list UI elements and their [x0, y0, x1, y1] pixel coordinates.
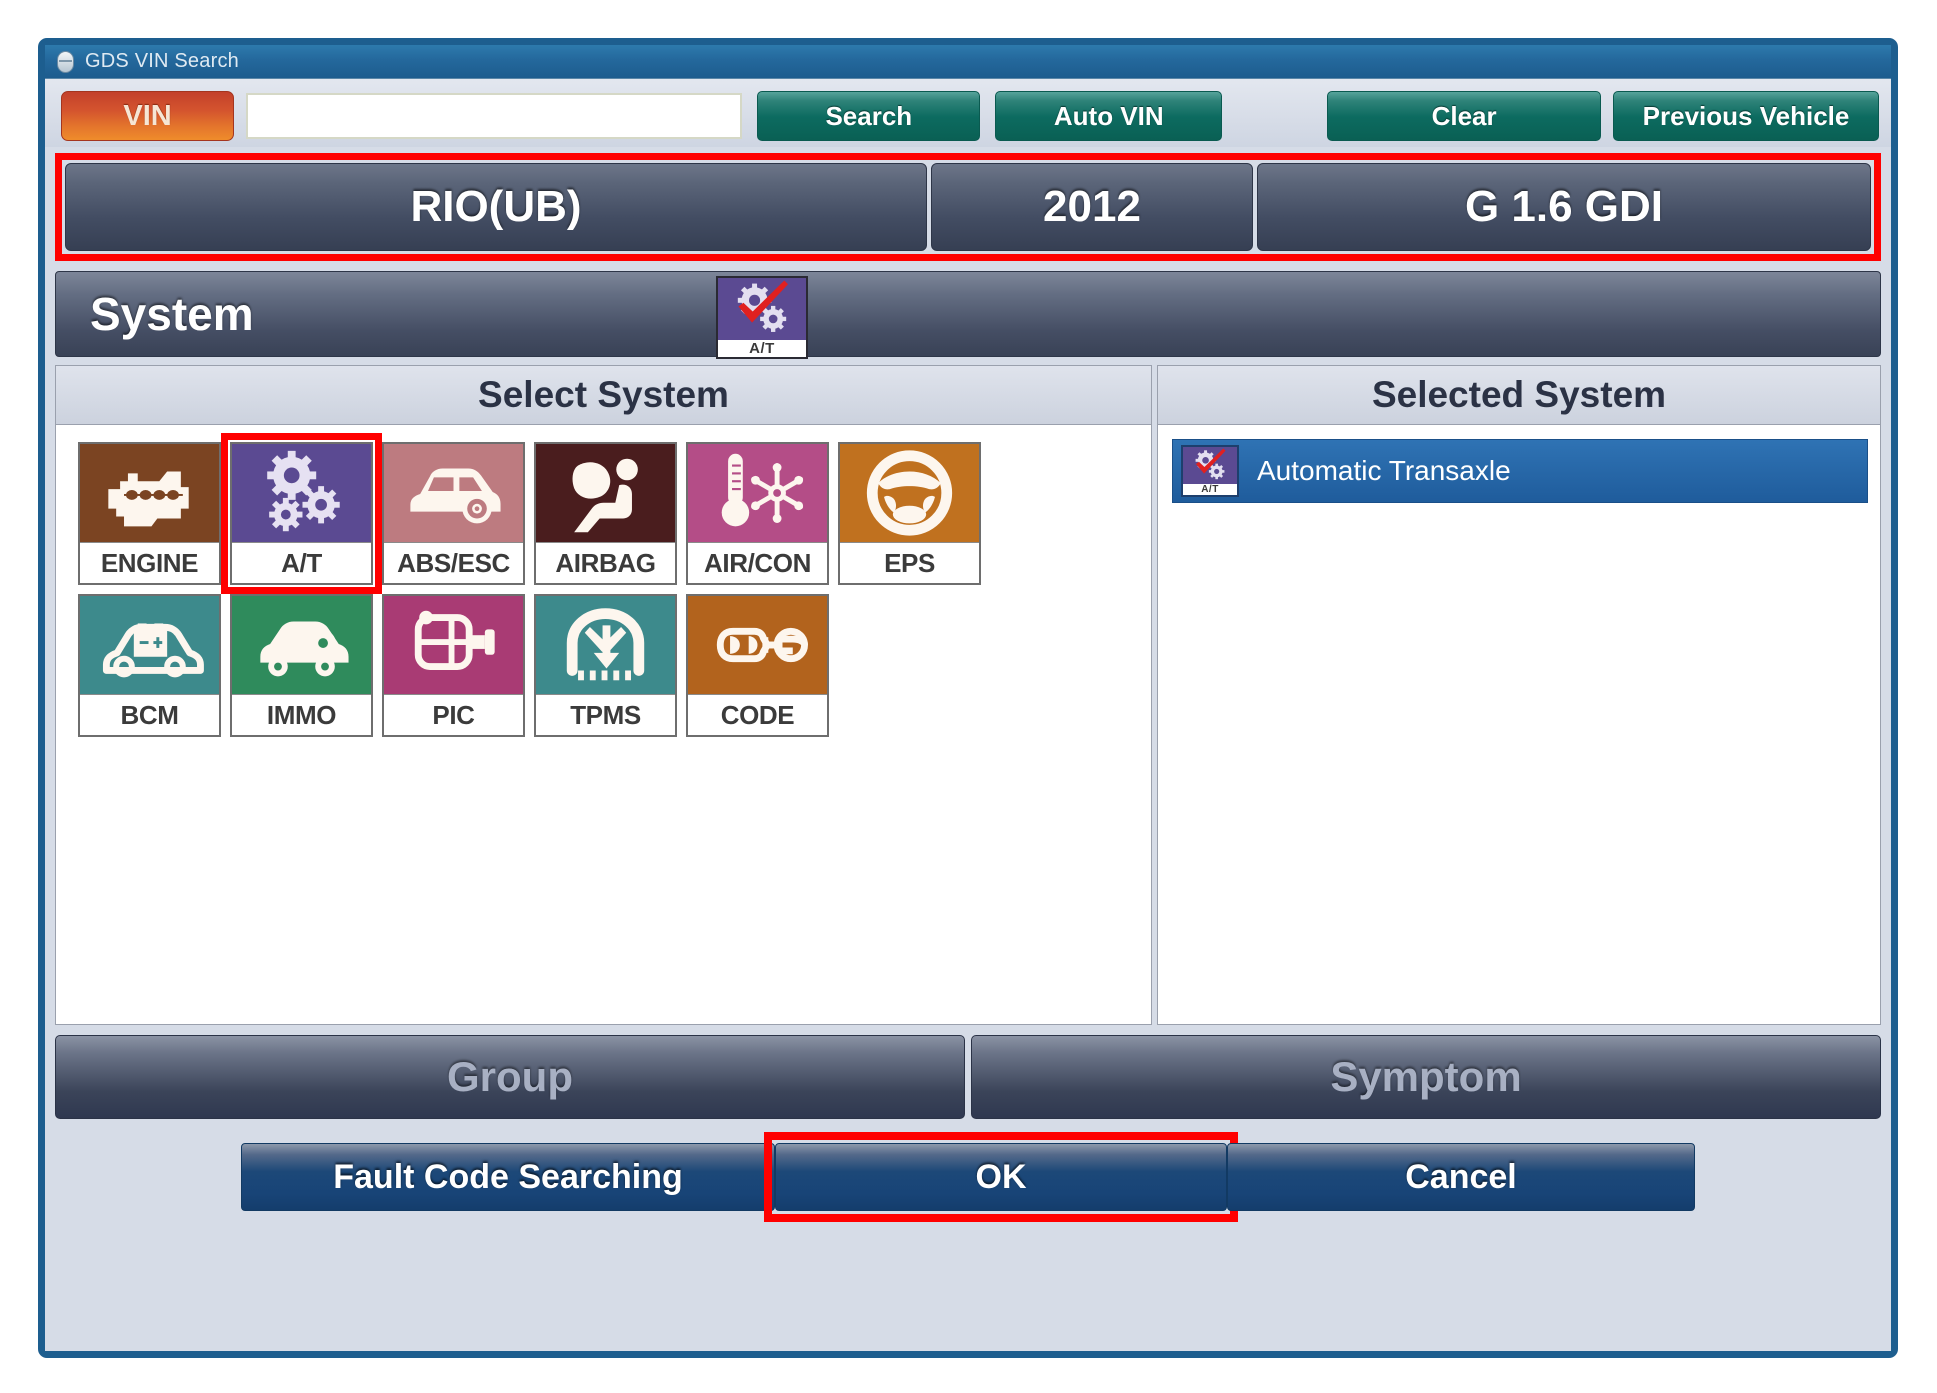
- system-tile-a-t[interactable]: A/T: [230, 442, 373, 585]
- footer-strip: [45, 1337, 1891, 1351]
- system-tile-frame: CODE: [686, 594, 829, 737]
- gears-icon: [232, 444, 371, 542]
- selected-system-label: Automatic Transaxle: [1257, 455, 1511, 487]
- system-tile-airbag[interactable]: AIRBAG: [534, 442, 677, 585]
- clear-button[interactable]: Clear: [1327, 91, 1601, 141]
- ok-wrap: OK: [775, 1143, 1227, 1211]
- system-tile-tpms[interactable]: TPMS: [534, 594, 677, 737]
- window-client-area: VIN Search Auto VIN Clear Previous Vehic…: [45, 78, 1891, 1351]
- selected-system-list: A/TAutomatic Transaxle: [1158, 425, 1880, 503]
- vehicle-model-button[interactable]: RIO(UB): [65, 163, 927, 251]
- system-tile-frame: A/T: [230, 442, 373, 585]
- system-tile-label: AIRBAG: [536, 542, 675, 583]
- select-system-body: ENGINEA/TABS/ESCAIRBAGAIR/CONEPSBCMIMMOP…: [56, 425, 1151, 1024]
- window-title: GDS VIN Search: [85, 50, 239, 73]
- system-tile-frame: AIRBAG: [534, 442, 677, 585]
- gds-vin-search-window: GDS VIN Search VIN Search Auto VIN Clear…: [38, 38, 1898, 1358]
- system-tile-code[interactable]: CODE: [686, 594, 829, 737]
- system-tile-label: ENGINE: [80, 542, 219, 583]
- key-code-icon: [688, 596, 827, 694]
- fault-code-searching-button[interactable]: Fault Code Searching: [241, 1143, 775, 1211]
- system-tile-air-con[interactable]: AIR/CON: [686, 442, 829, 585]
- vin-search-toolbar: VIN Search Auto VIN Clear Previous Vehic…: [45, 79, 1891, 147]
- car-brake-icon: [384, 444, 523, 542]
- tire-pressure-icon: [536, 596, 675, 694]
- smart-key-fob-icon: [384, 596, 523, 694]
- search-button[interactable]: Search: [757, 91, 980, 141]
- vin-search-icon: [57, 51, 74, 73]
- select-system-panel: Select System ENGINEA/TABS/ESCAIRBAGAIR/…: [55, 365, 1152, 1025]
- system-icon-grid: ENGINEA/TABS/ESCAIRBAGAIR/CONEPSBCMIMMOP…: [56, 425, 1098, 737]
- system-tile-frame: BCM: [78, 594, 221, 737]
- vin-button[interactable]: VIN: [61, 91, 234, 141]
- auto-vin-button[interactable]: Auto VIN: [995, 91, 1222, 141]
- vehicle-year-button[interactable]: 2012: [931, 163, 1253, 251]
- vehicle-engine-button[interactable]: G 1.6 GDI: [1257, 163, 1871, 251]
- system-tile-engine[interactable]: ENGINE: [78, 442, 221, 585]
- gears-check-svg: [1183, 447, 1237, 484]
- at-gear-check-icon: A/T: [716, 276, 808, 359]
- car-key-icon: [232, 596, 371, 694]
- action-button-row: Fault Code Searching OK Cancel: [45, 1131, 1891, 1223]
- system-title: System: [90, 287, 254, 341]
- selected-system-row[interactable]: A/TAutomatic Transaxle: [1172, 439, 1868, 503]
- select-system-header: Select System: [56, 366, 1151, 425]
- steering-wheel-icon: [840, 444, 979, 542]
- system-tile-bcm[interactable]: BCM: [78, 594, 221, 737]
- vin-input[interactable]: [246, 93, 742, 139]
- vehicle-info-highlight: RIO(UB) 2012 G 1.6 GDI: [55, 153, 1881, 261]
- thermometer-snowflake-icon: [688, 444, 827, 542]
- system-header-bar: System: [55, 271, 1881, 357]
- system-tile-label: EPS: [840, 542, 979, 583]
- car-battery-icon: [80, 596, 219, 694]
- system-tile-frame: IMMO: [230, 594, 373, 737]
- symptom-button[interactable]: Symptom: [971, 1035, 1881, 1119]
- secondary-button-row: Group Symptom: [55, 1035, 1881, 1119]
- system-tile-label: IMMO: [232, 694, 371, 735]
- at-badge-art: [718, 278, 806, 340]
- gears-check-svg: [718, 278, 806, 340]
- selected-icon-label: A/T: [1183, 484, 1237, 495]
- at-badge-label: A/T: [718, 340, 806, 357]
- system-tile-frame: TPMS: [534, 594, 677, 737]
- system-panels: Select System ENGINEA/TABS/ESCAIRBAGAIR/…: [55, 365, 1881, 1025]
- system-tile-pic[interactable]: PIC: [382, 594, 525, 737]
- system-tile-label: PIC: [384, 694, 523, 735]
- at-gear-check-icon: A/T: [1181, 445, 1239, 497]
- engine-block-icon: [80, 444, 219, 542]
- system-tile-frame: ABS/ESC: [382, 442, 525, 585]
- system-tile-label: A/T: [232, 542, 371, 583]
- cancel-button[interactable]: Cancel: [1227, 1143, 1695, 1211]
- selected-system-header: Selected System: [1158, 366, 1880, 425]
- selected-system-body: A/TAutomatic Transaxle: [1158, 425, 1880, 1024]
- vehicle-info-bar: RIO(UB) 2012 G 1.6 GDI: [65, 163, 1871, 251]
- group-button[interactable]: Group: [55, 1035, 965, 1119]
- system-tile-frame: AIR/CON: [686, 442, 829, 585]
- system-tile-label: BCM: [80, 694, 219, 735]
- selected-icon-art: [1183, 447, 1237, 484]
- ok-button[interactable]: OK: [775, 1143, 1227, 1211]
- system-tile-frame: PIC: [382, 594, 525, 737]
- window-titlebar: GDS VIN Search: [45, 45, 1891, 78]
- system-tile-label: TPMS: [536, 694, 675, 735]
- airbag-seat-icon: [536, 444, 675, 542]
- cancel-wrap: Cancel: [1227, 1143, 1695, 1211]
- system-tile-label: CODE: [688, 694, 827, 735]
- system-tile-frame: ENGINE: [78, 442, 221, 585]
- fault-code-wrap: Fault Code Searching: [241, 1143, 775, 1211]
- system-tile-frame: EPS: [838, 442, 981, 585]
- system-tile-eps[interactable]: EPS: [838, 442, 981, 585]
- selected-system-panel: Selected System: [1157, 365, 1881, 1025]
- previous-vehicle-button[interactable]: Previous Vehicle: [1613, 91, 1879, 141]
- system-tile-immo[interactable]: IMMO: [230, 594, 373, 737]
- system-tile-label: ABS/ESC: [384, 542, 523, 583]
- system-tile-abs-esc[interactable]: ABS/ESC: [382, 442, 525, 585]
- system-tile-label: AIR/CON: [688, 542, 827, 583]
